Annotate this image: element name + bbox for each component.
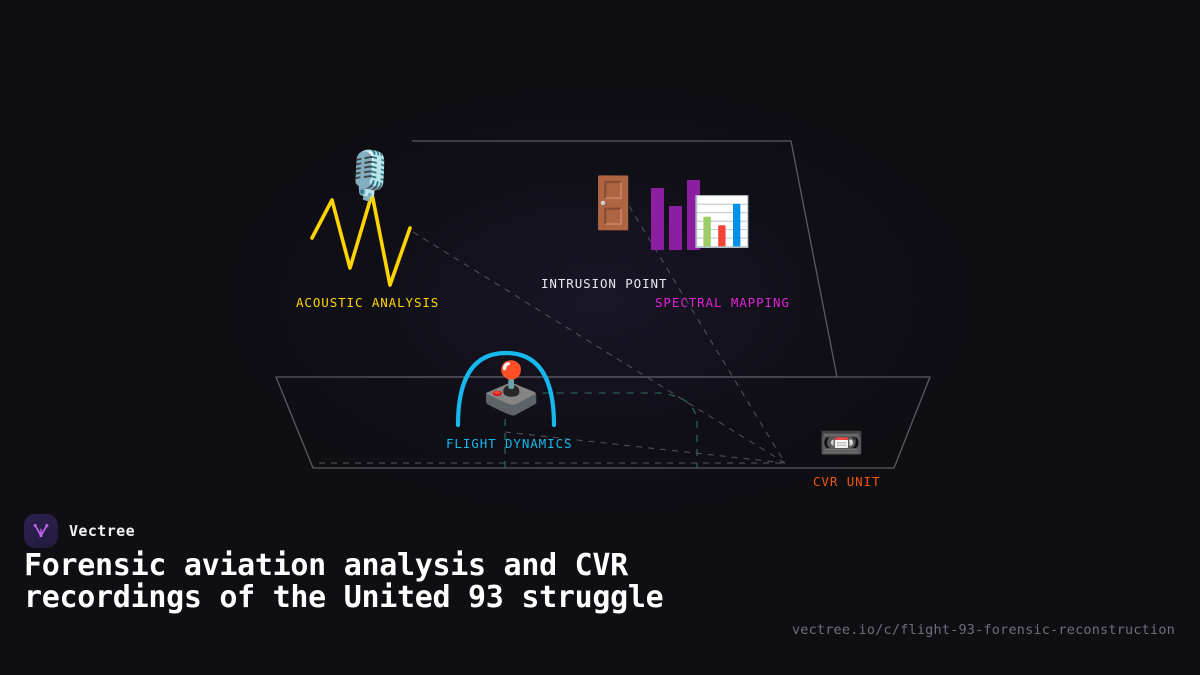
joystick-icon: 🕹️ — [480, 363, 542, 413]
acoustic-waveform — [312, 194, 410, 285]
share-card: 🎙️ 🚪 📊 🕹️ 📼 ACOUSTIC ANALYSIS INTRUSION … — [0, 0, 1200, 675]
brand-name: Vectree — [69, 522, 135, 540]
label-flight-dynamics: FLIGHT DYNAMICS — [446, 436, 572, 451]
vectree-logo-icon — [24, 514, 58, 548]
source-url: vectree.io/c/flight-93-forensic-reconstr… — [792, 622, 1175, 638]
card-footer: Vectree Forensic aviation analysis and C… — [0, 500, 1200, 675]
brand-row: Vectree — [24, 514, 135, 548]
diagram-stage: 🎙️ 🚪 📊 🕹️ 📼 ACOUSTIC ANALYSIS INTRUSION … — [0, 0, 1200, 500]
diagram-svg — [0, 0, 1200, 500]
videocassette-icon: 📼 — [819, 426, 864, 462]
label-spectral-mapping: SPECTRAL MAPPING — [655, 295, 790, 310]
label-intrusion-point: INTRUSION POINT — [541, 276, 667, 291]
bar-chart-icon: 📊 — [692, 198, 752, 246]
door-icon: 🚪 — [582, 178, 644, 228]
label-acoustic-analysis: ACOUSTIC ANALYSIS — [296, 295, 439, 310]
label-cvr-unit: CVR UNIT — [813, 474, 880, 489]
page-title: Forensic aviation analysis and CVR recor… — [24, 550, 804, 614]
